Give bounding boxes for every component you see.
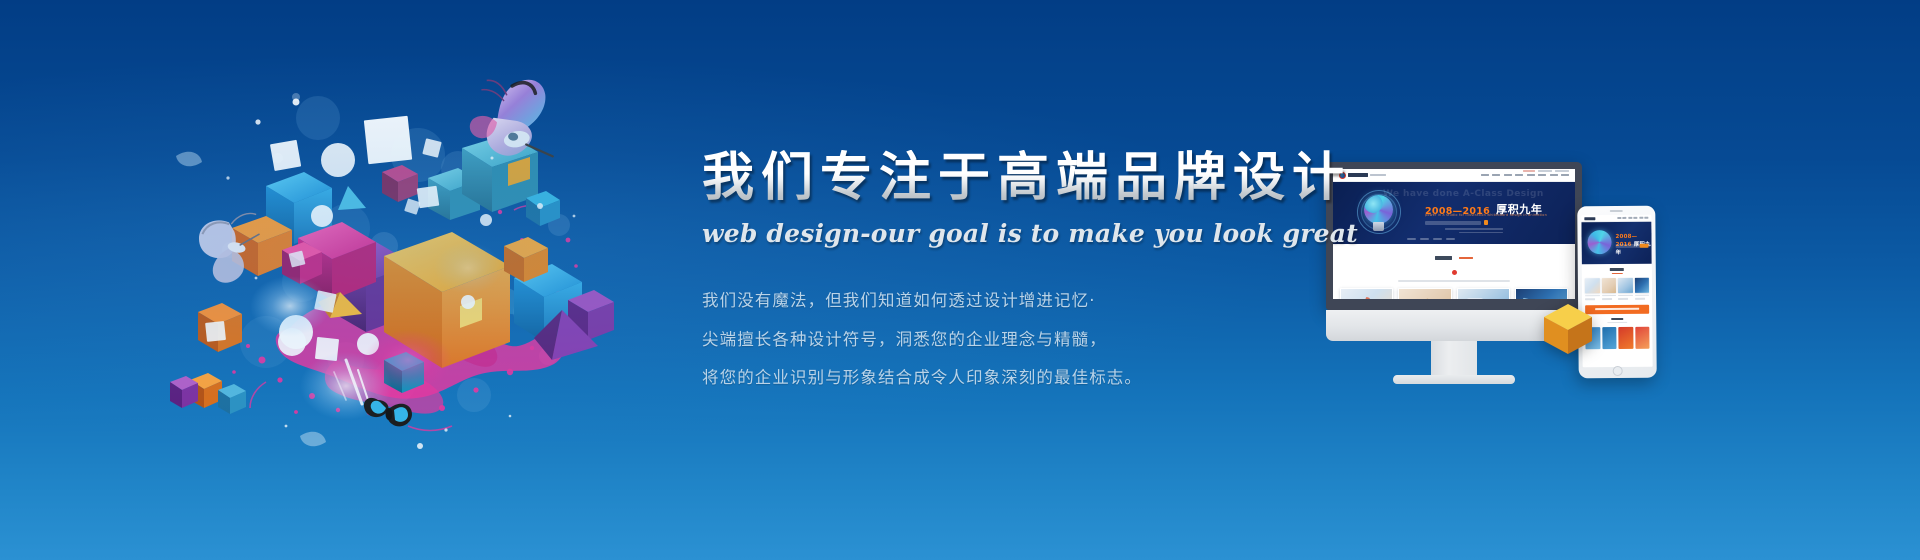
- mobile-cta-text: [1595, 308, 1639, 310]
- nav-item[interactable]: [1515, 174, 1523, 177]
- logo-tagline: [1370, 174, 1386, 176]
- nav-item[interactable]: [1538, 174, 1546, 177]
- mobile-case-card[interactable]: [1602, 327, 1617, 349]
- mobile-thumbnail-line: [1618, 298, 1628, 299]
- white-squares: [205, 116, 442, 361]
- mobile-hero-cta[interactable]: [1640, 244, 1649, 248]
- cube-teal-right: [462, 134, 538, 212]
- body-line-1: 我们没有魔法，但我们知道如何透过设计增进记忆·: [702, 288, 1362, 314]
- cube-small-bl-2: [190, 373, 222, 408]
- hero-ghost-text: We have done A-Class Design: [1383, 189, 1544, 199]
- mobile-section-title: [1610, 268, 1624, 271]
- banner-copy: 我们专注于高端品牌设计 web design-our goal is to ma…: [702, 150, 1362, 391]
- bulb-globe: [1364, 195, 1393, 224]
- phone-number-text: [1523, 170, 1535, 172]
- cube-teal-back: [428, 168, 480, 220]
- lightbulb-illustration-icon: [1355, 191, 1403, 239]
- mobile-thumbnail-cell[interactable]: [1618, 278, 1633, 300]
- mobile-nav-item[interactable]: [1644, 217, 1648, 219]
- pyramid-teal-top: [338, 186, 366, 210]
- glow-highlights: [250, 242, 502, 420]
- specks: [226, 157, 575, 432]
- cube-small-bl-3: [218, 384, 246, 414]
- mobile-thumbnail-cell[interactable]: [1601, 278, 1616, 300]
- nav-item[interactable]: [1492, 174, 1500, 177]
- paint-splatter-pink: [232, 206, 578, 431]
- mobile-thumbnail-grid: [1585, 278, 1649, 300]
- cube-small-bl-4: [170, 376, 198, 408]
- hero-carousel-dots[interactable]: [1407, 238, 1455, 240]
- pyramid-orange-small: [318, 292, 362, 318]
- mobile-nav-item[interactable]: [1622, 217, 1626, 219]
- hero-desc-bar: [1425, 221, 1481, 225]
- carousel-dot[interactable]: [1433, 238, 1442, 240]
- body-line-2: 尖端擅长各种设计符号，洞悉您的企业理念与精髓，: [702, 327, 1362, 353]
- hero-meta: [1441, 228, 1503, 233]
- cube-pink-mid: [298, 222, 376, 300]
- mobile-thumbnail-cell[interactable]: [1634, 278, 1649, 300]
- orange-3d-cube: [1542, 302, 1594, 356]
- hero-desc-line: [1425, 220, 1488, 225]
- mobile-thumbnail-line: [1585, 295, 1600, 296]
- bokeh-circles: [222, 93, 570, 412]
- mobile-thumbnail-image: [1618, 278, 1633, 293]
- butterfly-left: [196, 212, 265, 285]
- language-switch[interactable]: [1555, 170, 1569, 172]
- carousel-dot[interactable]: [1420, 238, 1429, 240]
- cube-small-bl-1: [198, 303, 242, 352]
- mobile-logo: [1584, 217, 1595, 220]
- cube-purple-mid: [328, 242, 414, 332]
- mobile-case-card[interactable]: [1635, 327, 1650, 349]
- mobile-nav[interactable]: [1617, 217, 1649, 219]
- monitor-screen: We have done A-Class Design 2008—2016 厚积…: [1333, 169, 1575, 299]
- hero-banner: 我们专注于高端品牌设计 web design-our goal is to ma…: [0, 0, 1920, 560]
- mobile-thumbnail-image: [1601, 278, 1616, 293]
- mobile-thumbnail-line: [1618, 295, 1633, 296]
- monitor-stand-neck: [1431, 341, 1477, 375]
- hero-meta-line: [1459, 232, 1503, 234]
- mobile-thumbnail-line: [1635, 295, 1650, 296]
- hero-meta-line: [1445, 228, 1503, 230]
- body-line-3: 将您的企业识别与形象结合成令人印象深刻的最佳标志。: [702, 365, 1362, 391]
- mobile-case-subtitle: [1607, 322, 1627, 324]
- body-copy: 我们没有魔法，但我们知道如何透过设计增进记忆· 尖端擅长各种设计符号，洞悉您的企…: [702, 288, 1362, 391]
- service-section-title: [1333, 249, 1575, 267]
- website-header: [1333, 169, 1575, 182]
- page-subtitle: web design-our goal is to make you look …: [702, 219, 1362, 248]
- mobile-case-card[interactable]: [1618, 327, 1633, 349]
- mobile-section-subtitle: [1611, 272, 1622, 274]
- hero-subline: power in a studio for illustration white…: [1425, 213, 1547, 217]
- mobile-thumbnail-line: [1602, 298, 1612, 299]
- mobile-hero: 2008—2016厚积九年: [1581, 222, 1651, 265]
- carousel-dot[interactable]: [1446, 238, 1455, 240]
- nav-item[interactable]: [1527, 174, 1535, 177]
- cube-blue-right: [514, 264, 582, 342]
- cube-blue-left: [266, 172, 332, 244]
- website-service-section: [1333, 244, 1575, 299]
- mobile-thumbnail-line: [1602, 295, 1617, 296]
- splatter-blue: [465, 282, 540, 320]
- mobile-lightbulb-icon: [1587, 230, 1611, 254]
- light-streaks: [334, 360, 370, 406]
- hero-cta-chip[interactable]: [1484, 220, 1488, 225]
- mobile-service-section: [1582, 264, 1652, 300]
- pyramid-purple: [534, 310, 598, 360]
- cube-orange-small-left: [232, 216, 292, 276]
- cube-small-bottom-pink: [384, 352, 424, 393]
- cube-purple-right: [568, 290, 614, 340]
- mobile-thumbnail-line: [1635, 298, 1645, 299]
- mobile-thumbnail-image: [1634, 278, 1649, 293]
- section-title-cn: [1435, 256, 1452, 260]
- cube-orange-right-small: [504, 237, 548, 282]
- section-title-en: [1459, 257, 1473, 260]
- mobile-thumbnail-line: [1585, 298, 1595, 299]
- butterfly-bottom: [364, 398, 412, 426]
- nav-item[interactable]: [1481, 174, 1489, 177]
- decor-leaf: [176, 152, 326, 447]
- section-divider-dot-icon: [1452, 270, 1457, 275]
- white-circles: [255, 99, 543, 450]
- page-title: 我们专注于高端品牌设计: [702, 150, 1362, 206]
- website-nav[interactable]: [1481, 174, 1570, 177]
- cube-orange-large: [384, 232, 510, 368]
- butterfly-top-right: [466, 72, 562, 162]
- website-hero: We have done A-Class Design 2008—2016 厚积…: [1333, 182, 1575, 244]
- carousel-dot[interactable]: [1407, 238, 1416, 240]
- service-thumbnail-row: [1333, 282, 1575, 299]
- monitor-bezel: We have done A-Class Design 2008—2016 厚积…: [1326, 162, 1582, 310]
- cube-magenta-small: [282, 242, 322, 284]
- mobile-nav-item[interactable]: [1617, 217, 1621, 219]
- mobile-case-cards: [1585, 327, 1649, 350]
- cube-maroon-small: [382, 165, 418, 202]
- website-contact-bar: [1523, 170, 1569, 172]
- device-mockups: We have done A-Class Design 2008—2016 厚积…: [1326, 162, 1656, 392]
- cube-small-cyan-tr: [526, 191, 560, 226]
- mobile-thumbnail-cell[interactable]: [1585, 278, 1600, 300]
- mobile-nav-item[interactable]: [1633, 217, 1637, 219]
- abstract-artwork: [170, 60, 640, 460]
- email-text: [1538, 170, 1552, 172]
- bulb-base: [1373, 222, 1384, 231]
- mobile-nav-item[interactable]: [1639, 217, 1643, 219]
- nav-item[interactable]: [1561, 174, 1569, 177]
- nav-item[interactable]: [1504, 174, 1512, 177]
- nav-item[interactable]: [1550, 174, 1558, 177]
- mobile-thumbnail-image: [1585, 278, 1600, 293]
- cube-cluster: [170, 134, 614, 414]
- mobile-case-title: [1611, 318, 1623, 320]
- monitor-stand-foot: [1393, 375, 1515, 384]
- service-thumbnail[interactable]: [1515, 288, 1568, 299]
- service-thumbnail[interactable]: [1398, 288, 1451, 299]
- service-thumbnail[interactable]: [1457, 288, 1510, 299]
- mobile-nav-item[interactable]: [1628, 217, 1632, 219]
